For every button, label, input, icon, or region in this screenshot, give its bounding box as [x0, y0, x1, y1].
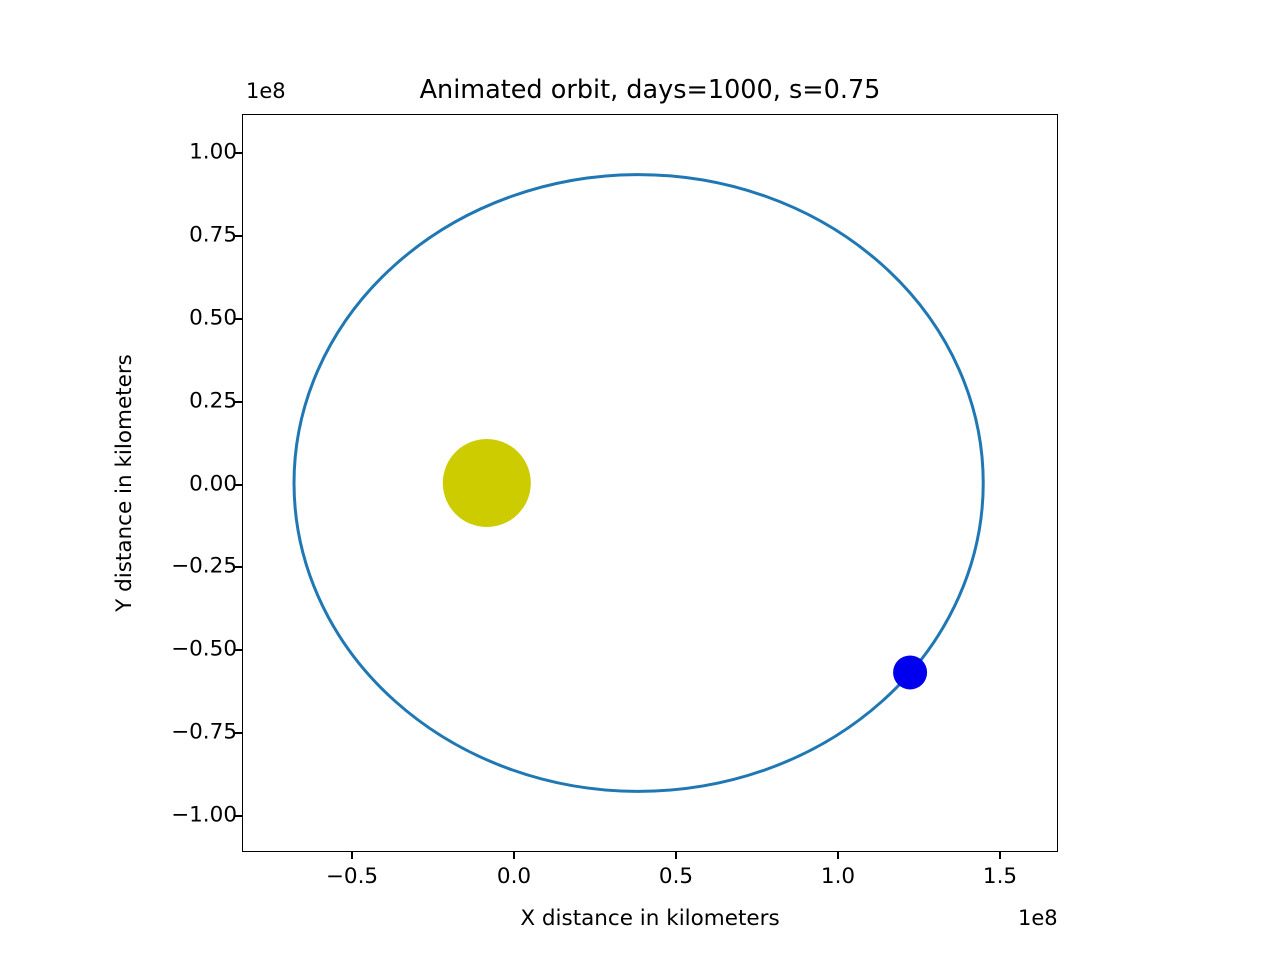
xtick-label: 0.5 [659, 864, 693, 889]
xtick-label: −0.5 [326, 864, 378, 889]
ytick-label: −0.50 [171, 637, 237, 662]
ytick-label: 1.00 [189, 140, 237, 165]
xtick-mark [675, 852, 677, 859]
x-axis-label: X distance in kilometers [242, 906, 1058, 931]
ytick-label: −0.75 [171, 720, 237, 745]
xtick-mark [513, 852, 515, 859]
y-axis-offset-text: 1e8 [246, 79, 286, 103]
sun-marker [443, 439, 531, 527]
orbit-plot-area [242, 114, 1058, 852]
ytick-label: 0.50 [189, 306, 237, 331]
xtick-label: 1.5 [983, 864, 1017, 889]
y-axis-label: Y distance in kilometers [112, 114, 137, 852]
ytick-label: 0.00 [189, 472, 237, 497]
xtick-mark [837, 852, 839, 859]
ytick-label: 0.75 [189, 223, 237, 248]
chart-title: Animated orbit, days=1000, s=0.75 [242, 75, 1058, 105]
x-axis-offset-text: 1e8 [1018, 906, 1058, 930]
ytick-label: −1.00 [171, 803, 237, 828]
xtick-label: 1.0 [821, 864, 855, 889]
orbit-path-group [294, 175, 983, 792]
orbit-path [294, 175, 983, 792]
ytick-label: 0.25 [189, 389, 237, 414]
ytick-label: −0.25 [171, 554, 237, 579]
xtick-label: 0.0 [497, 864, 531, 889]
xtick-mark [351, 852, 353, 859]
matplotlib-figure: Animated orbit, days=1000, s=0.75 1e8 1.… [0, 0, 1280, 960]
xtick-mark [999, 852, 1001, 859]
planet-marker [893, 655, 927, 689]
